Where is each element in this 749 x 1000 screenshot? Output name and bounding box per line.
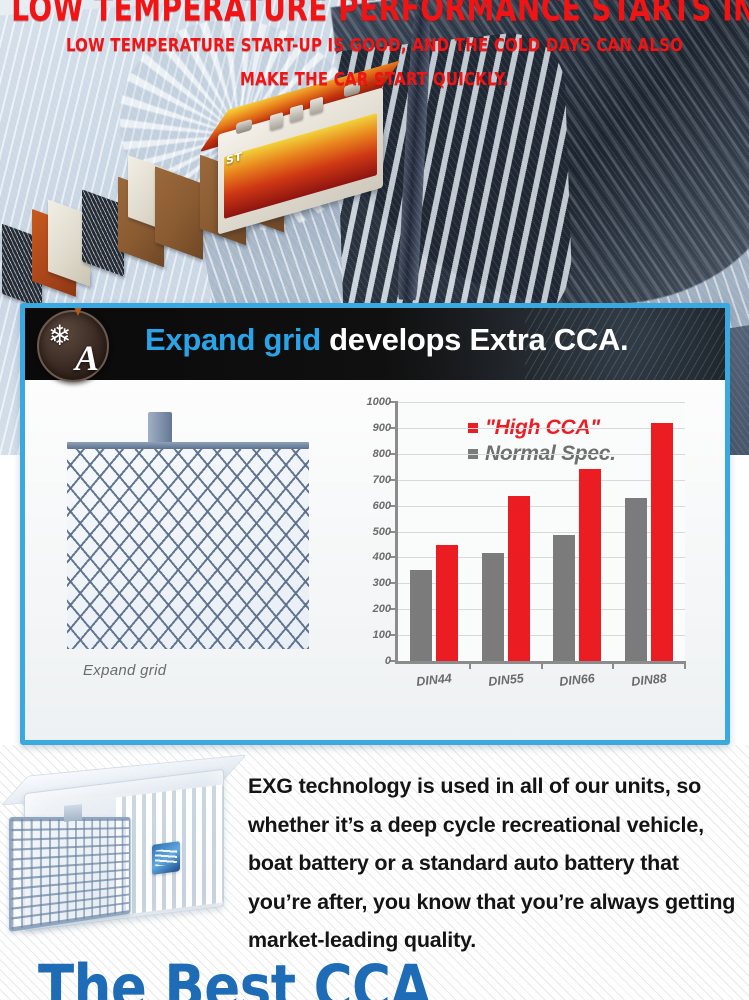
ghost-battery-logo — [152, 841, 180, 875]
badge-pointer-icon — [69, 303, 87, 316]
chart-y-tick-label: 700 — [373, 474, 391, 486]
snowflake-badge: ❄ A — [37, 310, 109, 382]
grid-lug-tab — [148, 412, 172, 444]
chart-y-tick-mark — [390, 505, 398, 507]
hero-subtitle-line-1: LOW TEMPERATURE START-UP IS GOOD, AND TH… — [0, 34, 749, 55]
chart-x-tick-label: DIN55 — [487, 671, 524, 689]
chart-x-tick-mark — [469, 661, 471, 669]
chart-bar — [553, 535, 575, 661]
chart-y-tick-label: 900 — [373, 422, 391, 434]
badge-letter-a: A — [75, 340, 99, 376]
chart-bar — [508, 496, 530, 661]
chart-bar — [482, 553, 504, 661]
chart-y-tick-mark — [390, 556, 398, 558]
chart-x-tick-label: DIN44 — [416, 671, 453, 689]
banner-heading-blue: Expand grid — [145, 322, 321, 357]
chart-bar — [651, 423, 673, 661]
chart-gridline — [398, 428, 685, 429]
chart-y-tick-label: 1000 — [367, 396, 391, 408]
chart-y-tick-label: 0 — [385, 655, 391, 667]
banner-heading: Expand grid develops Extra CCA. — [145, 322, 628, 358]
best-cca-heading: The Best CCA — [38, 958, 431, 1000]
chart-y-tick-label: 200 — [373, 603, 391, 615]
chart-y-tick-label: 600 — [373, 500, 391, 512]
panel-banner: Expand grid develops Extra CCA. — [25, 308, 725, 380]
chart-gridline — [398, 480, 685, 481]
chart-x-tick-mark — [684, 661, 686, 669]
chart-x-tick-mark — [541, 661, 543, 669]
chart-bar — [625, 498, 647, 661]
cca-bar-chart: "High CCA" Normal Spec. 0100200300400500… — [343, 394, 701, 734]
chart-y-tick-mark — [390, 479, 398, 481]
ghost-battery-grid-lug — [64, 804, 82, 822]
chart-y-tick-label: 800 — [373, 448, 391, 460]
body-paragraph: EXG technology is used in all of our uni… — [248, 767, 743, 960]
chart-bar — [579, 469, 601, 661]
chart-bar — [436, 545, 458, 661]
chart-x-tick-label: DIN66 — [559, 671, 596, 689]
chart-y-tick-mark — [390, 531, 398, 533]
ghost-battery-illustration — [6, 765, 242, 950]
panel-content: Expand grid "High CCA" Normal Spec. — [25, 380, 725, 740]
expand-grid-panel: Expand grid develops Extra CCA. ❄ A Expa… — [20, 303, 730, 745]
chart-y-tick-mark — [390, 401, 398, 403]
exploded-battery-illustration: ST — [0, 105, 400, 305]
hero-subtitle-line-2: MAKE THE CAR START QUICKLY. — [0, 68, 749, 89]
chart-y-tick-mark — [390, 608, 398, 610]
chart-legend: "High CCA" Normal Spec. — [468, 416, 616, 468]
grid-expanded-mesh — [67, 449, 309, 649]
snowflake-icon: ❄ — [48, 322, 71, 350]
chart-y-tick-mark — [390, 427, 398, 429]
chart-y-tick-mark — [390, 634, 398, 636]
chart-y-tick-label: 300 — [373, 577, 391, 589]
chart-gridline — [398, 454, 685, 455]
expand-grid-illustration: Expand grid — [53, 410, 323, 700]
chart-bar — [410, 570, 432, 661]
chart-x-tick-label: DIN88 — [631, 671, 668, 689]
grid-caption: Expand grid — [83, 662, 166, 679]
page-title: LOW TEMPERATURE PERFORMANCE STARTS INSTA… — [11, 0, 738, 27]
chart-plot-area: "High CCA" Normal Spec. 0100200300400500… — [395, 402, 685, 664]
chart-x-tick-mark — [612, 661, 614, 669]
ghost-battery-grid-plate — [9, 817, 130, 932]
chart-y-tick-label: 500 — [373, 526, 391, 538]
grid-top-frame — [67, 442, 309, 449]
chart-y-tick-mark — [390, 660, 398, 662]
battery-product-image: ST — [218, 87, 383, 234]
chart-y-tick-mark — [390, 453, 398, 455]
chart-y-tick-label: 100 — [373, 629, 391, 641]
page-root: LOW TEMPERATURE PERFORMANCE STARTS INSTA… — [0, 0, 749, 1000]
banner-heading-white: develops Extra CCA. — [321, 322, 629, 357]
chart-gridline — [398, 402, 685, 403]
chart-y-tick-label: 400 — [373, 551, 391, 563]
chart-y-tick-mark — [390, 582, 398, 584]
